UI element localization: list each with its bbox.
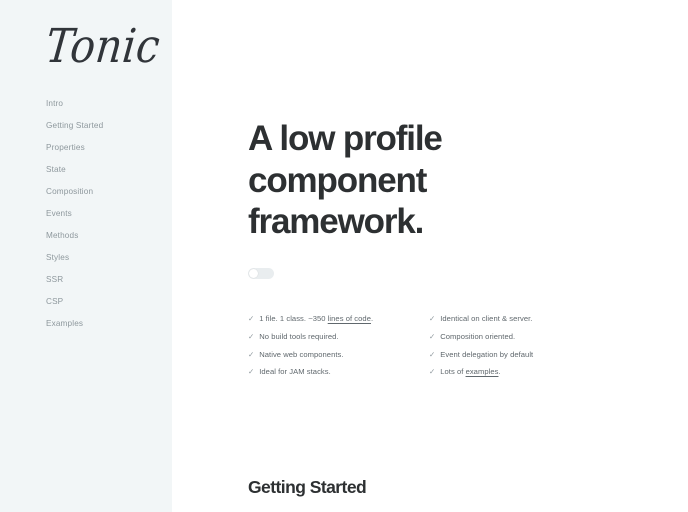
check-icon: ✓: [248, 351, 254, 358]
sidebar-item-methods[interactable]: Methods: [46, 225, 172, 247]
sidebar-item-state[interactable]: State: [46, 159, 172, 181]
feature-item: ✓ Event delegation by default: [429, 345, 610, 363]
feature-link[interactable]: examples: [466, 367, 499, 376]
page-root: Tonic Intro Getting Started Properties S…: [0, 0, 688, 512]
check-icon: ✓: [429, 315, 435, 322]
sidebar-item-intro[interactable]: Intro: [46, 93, 172, 115]
feature-text: No build tools required.: [259, 333, 338, 341]
feature-text: Lots of examples.: [440, 368, 500, 376]
sidebar-item-properties[interactable]: Properties: [46, 137, 172, 159]
sidebar-item-getting-started[interactable]: Getting Started: [46, 115, 172, 137]
sidebar-item-events[interactable]: Events: [46, 203, 172, 225]
sidebar-item-styles[interactable]: Styles: [46, 247, 172, 269]
feature-text: Composition oriented.: [440, 333, 515, 341]
main-content: A low profile component framework. ✓ 1 f…: [172, 0, 688, 512]
sidebar: Tonic Intro Getting Started Properties S…: [0, 0, 172, 512]
logo-tonic[interactable]: Tonic: [44, 23, 175, 70]
toggle-knob: [249, 269, 258, 278]
check-icon: ✓: [429, 368, 435, 375]
section-heading: Getting Started: [248, 479, 610, 497]
check-icon: ✓: [248, 333, 254, 340]
feature-item: ✓ Ideal for JAM stacks.: [248, 363, 429, 381]
sidebar-item-composition[interactable]: Composition: [46, 181, 172, 203]
sidebar-item-ssr[interactable]: SSR: [46, 269, 172, 291]
feature-column-right: ✓ Identical on client & server. ✓ Compos…: [429, 310, 610, 381]
getting-started-section: Getting Started Building a component wit…: [248, 479, 610, 512]
feature-item: ✓ Native web components.: [248, 345, 429, 363]
check-icon: ✓: [248, 315, 254, 322]
feature-item: ✓ Composition oriented.: [429, 328, 610, 346]
page-title: A low profile component framework.: [248, 118, 593, 243]
feature-link[interactable]: lines of code: [328, 314, 371, 323]
sidebar-item-csp[interactable]: CSP: [46, 291, 172, 313]
feature-item: ✓ 1 file. 1 class. ~350 lines of code.: [248, 310, 429, 328]
feature-text: Event delegation by default: [440, 351, 533, 359]
check-icon: ✓: [429, 333, 435, 340]
theme-toggle[interactable]: [248, 268, 274, 279]
check-icon: ✓: [248, 368, 254, 375]
feature-column-left: ✓ 1 file. 1 class. ~350 lines of code. ✓…: [248, 310, 429, 381]
feature-text: 1 file. 1 class. ~350 lines of code.: [259, 315, 373, 323]
feature-item: ✓ Identical on client & server.: [429, 310, 610, 328]
sidebar-item-examples[interactable]: Examples: [46, 313, 172, 335]
feature-lists: ✓ 1 file. 1 class. ~350 lines of code. ✓…: [248, 310, 610, 381]
feature-text: Identical on client & server.: [440, 315, 532, 323]
feature-text: Ideal for JAM stacks.: [259, 368, 331, 376]
toggle-row: [248, 265, 610, 283]
sidebar-nav: Intro Getting Started Properties State C…: [0, 93, 172, 335]
check-icon: ✓: [429, 351, 435, 358]
feature-item: ✓ Lots of examples.: [429, 363, 610, 381]
feature-text: Native web components.: [259, 351, 343, 359]
feature-item: ✓ No build tools required.: [248, 328, 429, 346]
content-wrapper: A low profile component framework. ✓ 1 f…: [172, 0, 688, 512]
